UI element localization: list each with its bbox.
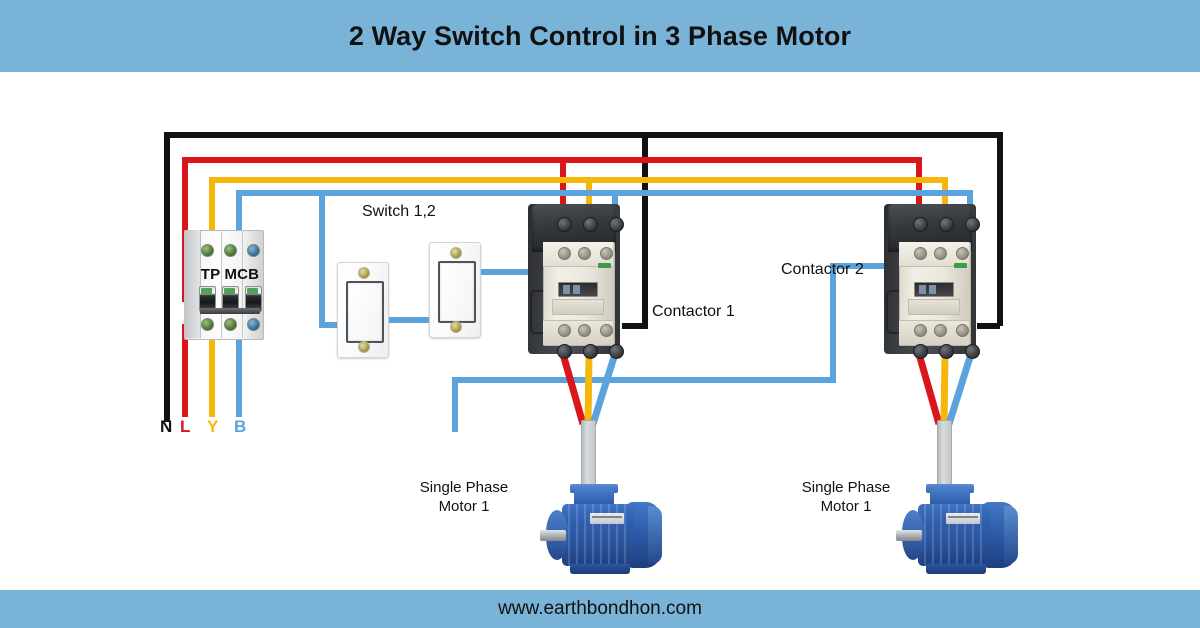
- contactor-2-main-terminal-l1[interactable]: [913, 217, 928, 232]
- wire-motor1-lead-yellow: [588, 354, 589, 424]
- wire-motor2-lead-yellow: [944, 354, 945, 424]
- mcb-shoulder: [184, 230, 201, 338]
- contactor-label-slot: [908, 299, 960, 315]
- contactor-din-clip: [530, 290, 543, 334]
- motor-fan-cover: [1004, 506, 1018, 564]
- wall-switch-1[interactable]: [337, 262, 389, 358]
- mcb-bottom-terminal-l[interactable]: [201, 318, 214, 331]
- contactor-1-main-terminal-t2[interactable]: [583, 344, 598, 359]
- contactor-1[interactable]: [528, 204, 620, 354]
- switch-1-rocker[interactable]: [346, 281, 384, 343]
- contactor-1-main-terminal-l3[interactable]: [609, 217, 624, 232]
- wall-switch-2[interactable]: [429, 242, 481, 338]
- contactor-label-slot: [552, 299, 604, 315]
- contactor-1-aux-terminal-14[interactable]: [578, 247, 591, 260]
- contactor-2-aux-terminal-22[interactable]: [934, 324, 947, 337]
- contactor-2-main-terminal-t2[interactable]: [939, 344, 954, 359]
- mcb-bottom-terminal-y[interactable]: [224, 318, 237, 331]
- mcb-pole-divider: [242, 230, 243, 338]
- motor-mounting-foot: [926, 564, 986, 574]
- wire-motor2-lead-red: [919, 354, 939, 424]
- motor-2[interactable]: [896, 480, 1024, 584]
- motor-shaft: [896, 530, 922, 541]
- tp-mcb[interactable]: TP MCB: [184, 230, 262, 338]
- contactor-din-clip: [886, 290, 899, 334]
- mcb-top-terminal-y[interactable]: [224, 244, 237, 257]
- contactor-2-main-terminal-t3[interactable]: [965, 344, 980, 359]
- contactor-1-aux-terminal-21[interactable]: [558, 324, 571, 337]
- switch-screw-bottom: [450, 321, 462, 333]
- motor-shaft: [540, 530, 566, 541]
- contactor-2-coil-terminal-a2[interactable]: [956, 324, 969, 337]
- mcb-bottom-terminal-b[interactable]: [247, 318, 260, 331]
- contactor-2-aux-terminal-14[interactable]: [934, 247, 947, 260]
- motor-nameplate: [590, 513, 624, 524]
- mcb-tie-bar: [200, 308, 260, 314]
- terminal-label-l: L: [180, 417, 190, 437]
- footer-website-url: www.earthbondhon.com: [498, 598, 702, 620]
- contactor-status-window: [558, 282, 598, 297]
- page-title: 2 Way Switch Control in 3 Phase Motor: [349, 21, 851, 52]
- mcb-top-terminal-b[interactable]: [247, 244, 260, 257]
- wire-motor1-lead-blue: [593, 354, 615, 424]
- terminal-label-n: N: [160, 417, 172, 437]
- contactor-1-main-terminal-t1[interactable]: [557, 344, 572, 359]
- contactor-green-marker: [598, 263, 611, 268]
- contactor-1-main-terminal-l2[interactable]: [583, 217, 598, 232]
- contactor-2-main-terminal-l3[interactable]: [965, 217, 980, 232]
- terminal-label-b: B: [234, 417, 246, 437]
- motor-nameplate: [946, 513, 980, 524]
- mcb-pole-divider: [221, 230, 222, 338]
- switch-screw-top: [358, 267, 370, 279]
- motor-fan-cover: [648, 506, 662, 564]
- mcb-label: TP MCB: [198, 266, 262, 283]
- switch-2-rocker[interactable]: [438, 261, 476, 323]
- contactor-1-label: Contactor 1: [652, 302, 735, 322]
- motor-2-label-line2: Motor 1: [821, 498, 872, 515]
- motor-1-cable-conduit: [581, 420, 596, 488]
- switch-screw-bottom: [358, 341, 370, 353]
- switch-screw-top: [450, 247, 462, 259]
- contactor-2[interactable]: [884, 204, 976, 354]
- motor-mounting-foot: [570, 564, 630, 574]
- contactor-2-aux-terminal-21[interactable]: [914, 324, 927, 337]
- wiring-diagram-canvas: TP MCB N L Y B Switch 1,2: [0, 72, 1200, 590]
- contactor-2-main-terminal-t1[interactable]: [913, 344, 928, 359]
- contactor-1-main-terminal-t3[interactable]: [609, 344, 624, 359]
- contactor-2-main-terminal-l2[interactable]: [939, 217, 954, 232]
- motor-2-cable-conduit: [937, 420, 952, 488]
- switch-group-label: Switch 1,2: [362, 202, 436, 222]
- contactor-1-aux-terminal-13[interactable]: [558, 247, 571, 260]
- contactor-green-marker: [954, 263, 967, 268]
- contactor-1-coil-terminal-a2[interactable]: [600, 324, 613, 337]
- contactor-2-coil-terminal-a1[interactable]: [956, 247, 969, 260]
- mcb-top-terminal-l[interactable]: [201, 244, 214, 257]
- motor-2-label: Single Phase Motor 1: [782, 478, 910, 516]
- contactor-2-label: Contactor 2: [781, 260, 864, 280]
- motor-1[interactable]: [540, 480, 668, 584]
- contactor-status-window: [914, 282, 954, 297]
- contactor-1-coil-terminal-a1[interactable]: [600, 247, 613, 260]
- motor-1-label: Single Phase Motor 1: [400, 478, 528, 516]
- diagram-page: 2 Way Switch Control in 3 Phase Motor: [0, 0, 1200, 628]
- motor-1-label-line1: Single Phase: [420, 479, 508, 496]
- contactor-1-aux-terminal-22[interactable]: [578, 324, 591, 337]
- contactor-2-aux-terminal-13[interactable]: [914, 247, 927, 260]
- contactor-1-main-terminal-l1[interactable]: [557, 217, 572, 232]
- wire-neutral-branch-contactor1: [622, 135, 645, 326]
- wire-motor1-lead-red: [563, 354, 583, 424]
- terminal-label-y: Y: [207, 417, 218, 437]
- motor-1-label-line2: Motor 1: [439, 498, 490, 515]
- footer-banner: www.earthbondhon.com: [0, 590, 1200, 628]
- wire-motor2-lead-blue: [949, 354, 971, 424]
- motor-2-label-line1: Single Phase: [802, 479, 890, 496]
- header-banner: 2 Way Switch Control in 3 Phase Motor: [0, 0, 1200, 72]
